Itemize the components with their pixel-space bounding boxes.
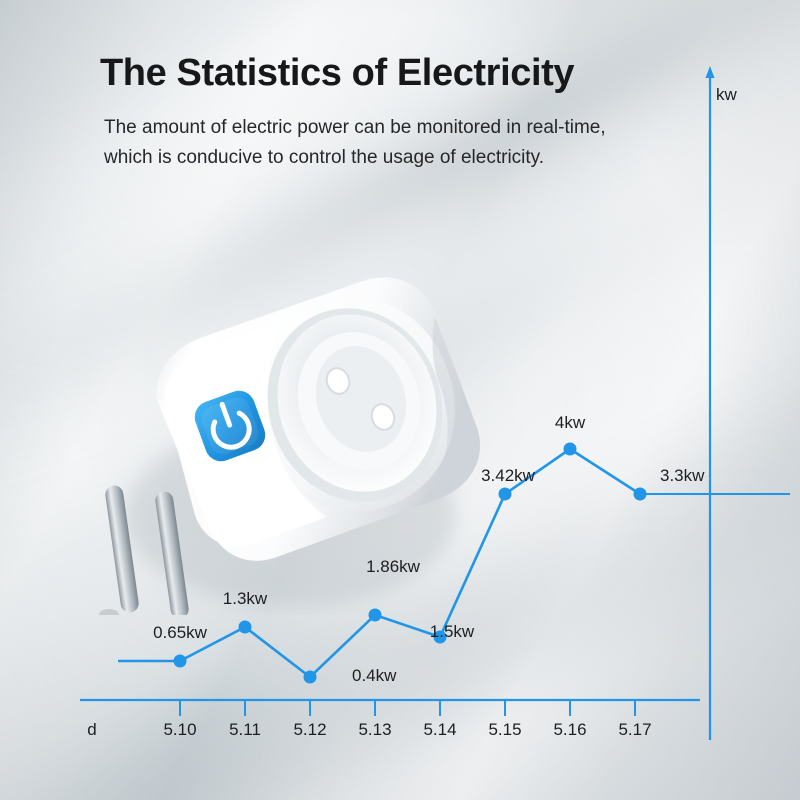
x-tick-label-6: 5.16 xyxy=(553,720,586,739)
x-axis-label: d xyxy=(87,720,96,739)
data-label-6: 4kw xyxy=(555,413,586,432)
data-point[interactable] xyxy=(239,621,252,634)
data-point[interactable] xyxy=(634,488,647,501)
data-label-1: 1.3kw xyxy=(223,589,268,608)
data-label-7: 3.3kw xyxy=(660,466,705,485)
data-point[interactable] xyxy=(499,488,512,501)
screenshot-root: The Statistics of Electricity The amount… xyxy=(0,0,800,800)
y-axis-arrow-icon xyxy=(706,66,715,78)
data-point[interactable] xyxy=(564,443,577,456)
x-tick-label-3: 5.13 xyxy=(358,720,391,739)
data-point[interactable] xyxy=(174,655,187,668)
data-label-4: 1.5kw xyxy=(430,622,475,641)
x-tick-label-4: 5.14 xyxy=(423,720,456,739)
chart-x-ticks xyxy=(180,700,635,716)
x-tick-label-7: 5.17 xyxy=(618,720,651,739)
x-tick-label-0: 5.10 xyxy=(163,720,196,739)
data-label-3: 1.86kw xyxy=(366,557,421,576)
data-label-5: 3.42kw xyxy=(481,466,536,485)
x-tick-label-5: 5.15 xyxy=(488,720,521,739)
x-tick-label-2: 5.12 xyxy=(293,720,326,739)
y-axis-label: kw xyxy=(716,85,738,104)
data-label-2: 0.4kw xyxy=(352,666,397,685)
data-label-0: 0.65kw xyxy=(153,623,208,642)
data-point[interactable] xyxy=(304,671,317,684)
x-tick-label-1: 5.11 xyxy=(229,720,261,739)
data-point[interactable] xyxy=(369,609,382,622)
electricity-line-chart: 0.65kw 1.3kw 0.4kw 1.86kw 1.5kw 3.42kw 4… xyxy=(0,0,800,800)
